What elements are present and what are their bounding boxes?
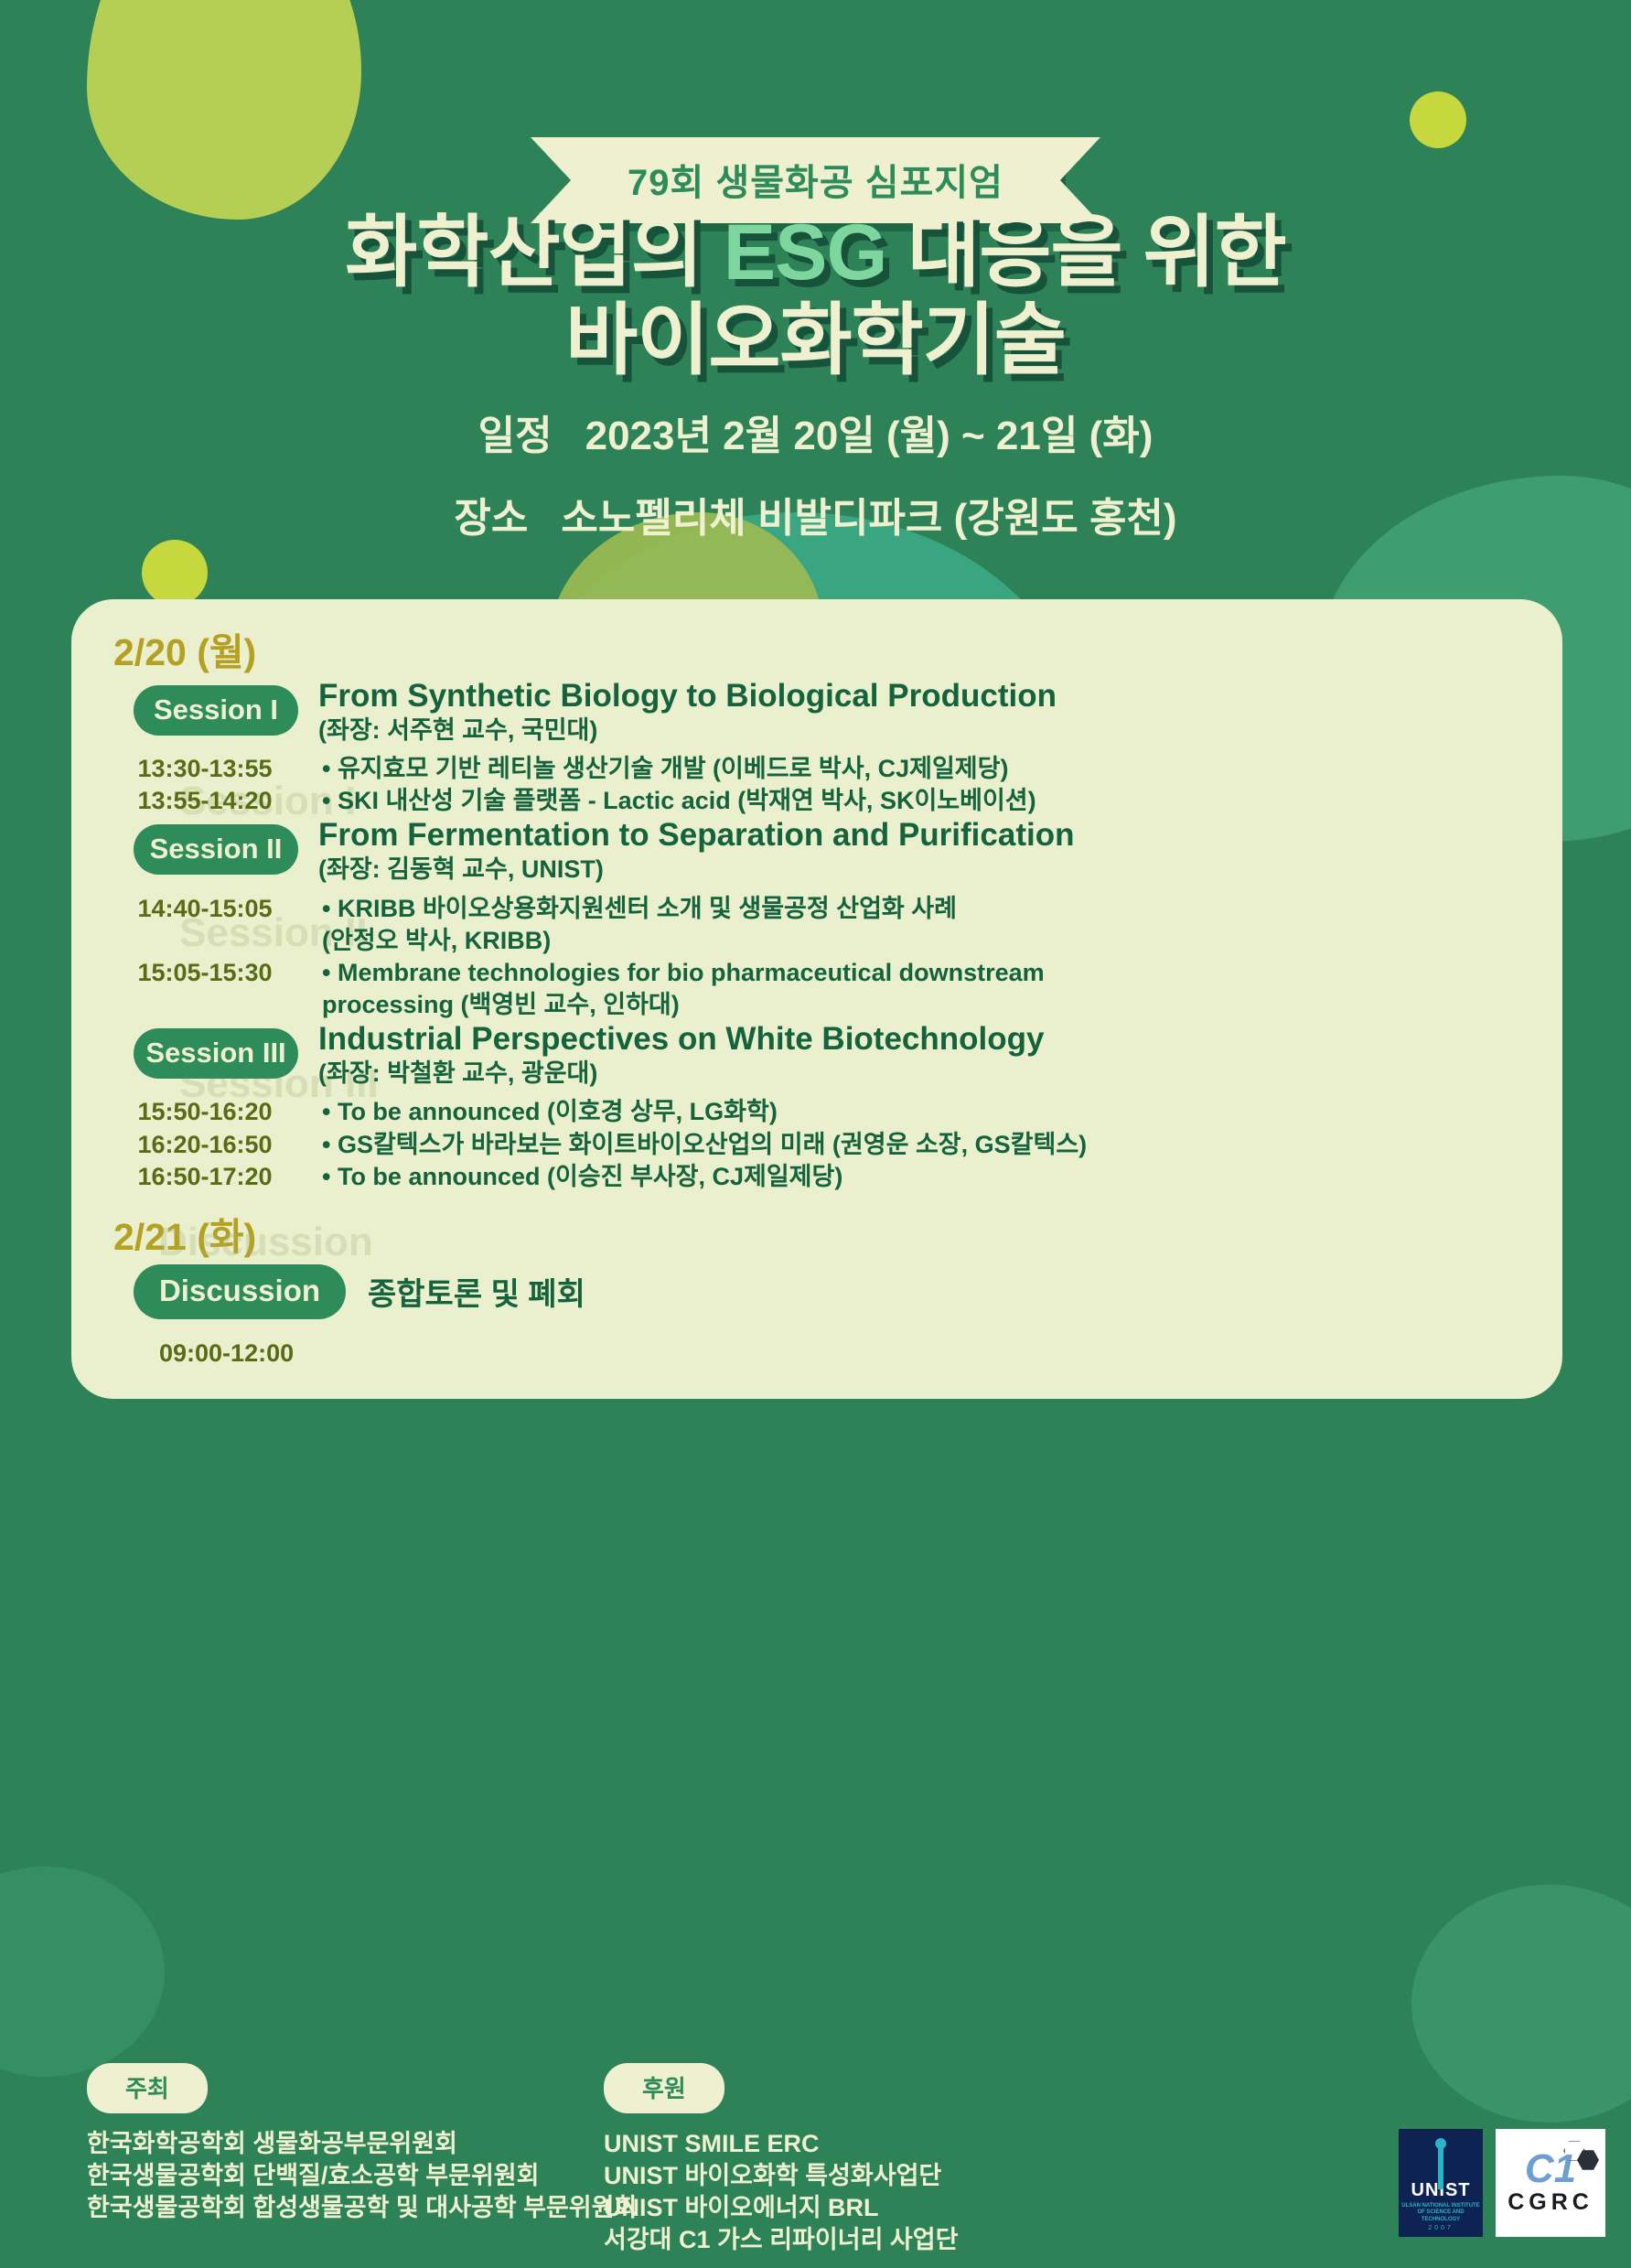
talk-time: 14:40-15:05 xyxy=(99,893,311,925)
unist-bar-icon xyxy=(1438,2147,1443,2189)
day-header-1: 2/20 (월) xyxy=(113,621,1562,676)
day-header-2: 2/21 (화) xyxy=(113,1206,1562,1261)
page-title-line1: 화학산업의 ESG 대응을 위한 xyxy=(0,209,1631,296)
session-chair: (좌장: 김동혁 교수, UNIST) xyxy=(318,855,1074,884)
session-chair: (좌장: 서주현 교수, 국민대) xyxy=(318,715,1057,745)
talk-item: • SKI 내산성 기술 플랫폼 - Lactic acid (박재연 박사, … xyxy=(322,785,1036,817)
poster-root: 79회 생물화공 심포지엄 화학산업의 ESG 대응을 위한 바이오화학기술 일… xyxy=(0,0,1631,2268)
page-title-line2: 바이오화학기술 xyxy=(0,296,1631,384)
session-title: From Fermentation to Separation and Puri… xyxy=(318,817,1074,854)
date-label: 일정 xyxy=(478,414,553,458)
discussion-time: 09:00-12:00 xyxy=(159,1339,1562,1368)
talk-item: • To be announced (이승진 부사장, CJ제일제당) xyxy=(322,1161,1087,1193)
unist-logo-year: 2007 xyxy=(1428,2225,1454,2231)
session-title: From Synthetic Biology to Biological Pro… xyxy=(318,678,1057,715)
organizer-list: 한국화학공학회 생물화공부문위원회한국생물공학회 단백질/효소공학 부문위원회한… xyxy=(87,2128,637,2224)
organizer-item: 한국화학공학회 생물화공부문위원회 xyxy=(87,2128,637,2160)
session-title-wrap: From Fermentation to Separation and Puri… xyxy=(318,817,1074,884)
organizer-column: 주최 한국화학공학회 생물화공부문위원회한국생물공학회 단백질/효소공학 부문위… xyxy=(87,2063,637,2224)
logo-group: UNIST ULSAN NATIONAL INSTITUTE OF SCIENC… xyxy=(1399,2129,1605,2237)
schedule-card: Session I Session II Session III Discuss… xyxy=(71,599,1562,1399)
session-pill[interactable]: Session III xyxy=(134,1028,298,1079)
talk-time-column: 15:50-16:2016:20-16:5016:50-17:20 xyxy=(71,1096,311,1192)
talk-item: • 유지효모 기반 레티놀 생산기술 개발 (이베드로 박사, CJ제일제당) xyxy=(322,753,1036,785)
venue-label: 장소 xyxy=(454,496,528,541)
session-talks: 14:40-15:05 15:05-15:30 • KRIBB 바이오상용화지원… xyxy=(71,893,1562,1021)
talk-time: 15:50-16:20 xyxy=(99,1096,311,1128)
session-chair: (좌장: 박철환 교수, 광운대) xyxy=(318,1059,1044,1088)
title-part-before: 화학산업의 xyxy=(345,209,724,296)
session-pill[interactable]: Session II xyxy=(134,824,298,875)
unist-logo: UNIST ULSAN NATIONAL INSTITUTE OF SCIENC… xyxy=(1399,2129,1483,2237)
talk-item: • KRIBB 바이오상용화지원센터 소개 및 생물공정 산업화 사례 xyxy=(322,893,1045,925)
title-accent-esg: ESG xyxy=(724,209,887,296)
session-block: Session IIFrom Fermentation to Separatio… xyxy=(71,817,1562,1021)
footer: 주최 한국화학공학회 생물화공부문위원회한국생물공학회 단백질/효소공학 부문위… xyxy=(0,2054,1631,2268)
sponsor-tag: 후원 xyxy=(604,2063,724,2113)
session-header-row: Session IIFrom Fermentation to Separatio… xyxy=(71,817,1562,884)
talk-time: 16:20-16:50 xyxy=(99,1129,311,1161)
cgrc-logo: C1 CGRC xyxy=(1496,2129,1605,2237)
organizer-item: 한국생물공학회 단백질/효소공학 부문위원회 xyxy=(87,2160,637,2192)
sponsor-item: UNIST 바이오에너지 BRL xyxy=(604,2192,958,2224)
talk-time: 13:30-13:55 xyxy=(99,753,311,785)
event-date-line: 일정2023년 2월 20일 (월) ~ 21일 (화) xyxy=(0,403,1631,461)
title-part-after: 대응을 위한 xyxy=(886,209,1285,296)
talk-list: • To be announced (이호경 상무, LG화학)• GS칼텍스가… xyxy=(322,1096,1087,1192)
page-title: 화학산업의 ESG 대응을 위한 바이오화학기술 xyxy=(0,209,1631,385)
talk-time: 16:50-17:20 xyxy=(99,1161,311,1193)
talk-time-column: 13:30-13:5513:55-14:20 xyxy=(71,753,311,817)
organizer-tag: 주최 xyxy=(87,2063,208,2113)
talk-time: 15:05-15:30 xyxy=(99,957,311,989)
session-block: Session IIIIndustrial Perspectives on Wh… xyxy=(71,1021,1562,1193)
sponsor-list: UNIST SMILE ERCUNIST 바이오화학 특성화사업단UNIST 바… xyxy=(604,2128,958,2256)
talk-item: processing (백영빈 교수, 인하대) xyxy=(322,989,1045,1021)
talk-time-column: 14:40-15:05 15:05-15:30 xyxy=(71,893,311,1021)
organizer-item: 한국생물공학회 합성생물공학 및 대사공학 부문위원회 xyxy=(87,2192,637,2224)
talk-list: • 유지효모 기반 레티놀 생산기술 개발 (이베드로 박사, CJ제일제당)•… xyxy=(322,753,1036,817)
discussion-text: 종합토론 및 폐회 xyxy=(368,1269,585,1314)
discussion-pill[interactable]: Discussion xyxy=(134,1264,346,1319)
session-title-wrap: Industrial Perspectives on White Biotech… xyxy=(318,1021,1044,1088)
talk-list: • KRIBB 바이오상용화지원센터 소개 및 생물공정 산업화 사례 (안정오… xyxy=(322,893,1045,1021)
session-talks: 15:50-16:2016:20-16:5016:50-17:20• To be… xyxy=(71,1096,1562,1192)
session-talks: 13:30-13:5513:55-14:20• 유지효모 기반 레티놀 생산기술… xyxy=(71,753,1562,817)
unist-logo-subtitle: ULSAN NATIONAL INSTITUTE OF SCIENCE AND … xyxy=(1399,2203,1483,2224)
decorative-blob-bottom-left xyxy=(0,1866,165,2077)
session-list: Session IFrom Synthetic Biology to Biolo… xyxy=(71,678,1562,1193)
date-value: 2023년 2월 20일 (월) ~ 21일 (화) xyxy=(585,414,1154,458)
talk-time: 13:55-14:20 xyxy=(99,785,311,817)
session-title: Industrial Perspectives on White Biotech… xyxy=(318,1021,1044,1058)
talk-item: (안정오 박사, KRIBB) xyxy=(322,925,1045,957)
sponsor-column: 후원 UNIST SMILE ERCUNIST 바이오화학 특성화사업단UNIS… xyxy=(604,2063,958,2256)
session-header-row: Session IIIIndustrial Perspectives on Wh… xyxy=(71,1021,1562,1088)
time-spacer xyxy=(99,989,311,1021)
session-header-row: Session IFrom Synthetic Biology to Biolo… xyxy=(71,678,1562,745)
talk-item: • To be announced (이호경 상무, LG화학) xyxy=(322,1096,1087,1128)
sponsor-item: UNIST 바이오화학 특성화사업단 xyxy=(604,2160,958,2192)
time-spacer xyxy=(99,925,311,957)
session-title-wrap: From Synthetic Biology to Biological Pro… xyxy=(318,678,1057,745)
session-pill[interactable]: Session I xyxy=(134,685,298,736)
discussion-row: Discussion 종합토론 및 폐회 xyxy=(71,1264,1562,1319)
session-block: Session IFrom Synthetic Biology to Biolo… xyxy=(71,678,1562,817)
talk-item: • GS칼텍스가 바라보는 화이트바이오산업의 미래 (권영운 소장, GS칼텍… xyxy=(322,1129,1087,1161)
sponsor-item: UNIST SMILE ERC xyxy=(604,2128,958,2160)
cgrc-logo-bottom: CGRC xyxy=(1508,2189,1593,2216)
event-venue-line: 장소소노펠리체 비발디파크 (강원도 홍천) xyxy=(0,485,1631,543)
decorative-dot-left xyxy=(142,540,208,606)
sponsor-item: 서강대 C1 가스 리파이너리 사업단 xyxy=(604,2224,958,2256)
venue-value: 소노펠리체 비발디파크 (강원도 홍천) xyxy=(561,496,1176,541)
talk-item: • Membrane technologies for bio pharmace… xyxy=(322,957,1045,989)
